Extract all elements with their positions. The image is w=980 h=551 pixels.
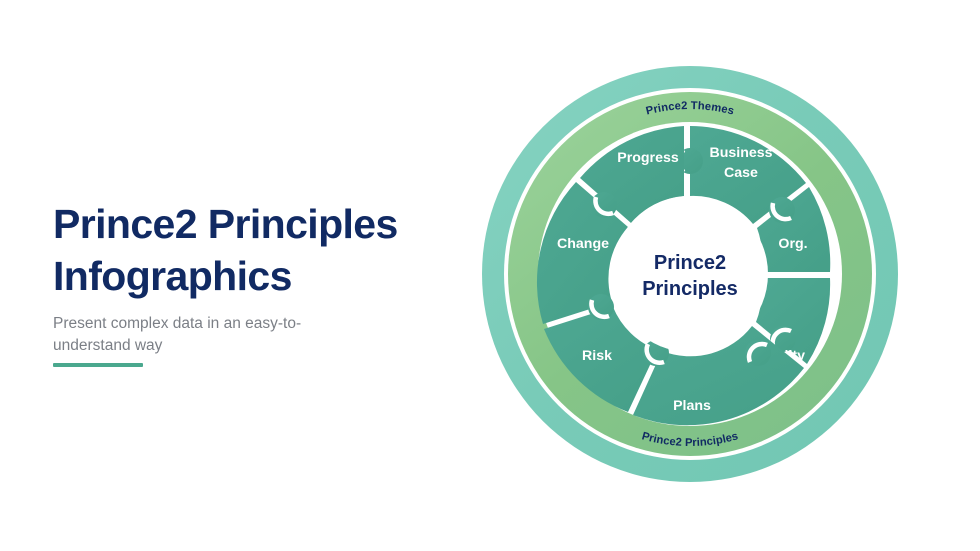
accent-underline xyxy=(53,363,143,367)
puzzle-piece-label-2: Case xyxy=(724,165,758,181)
slide-subtitle: Present complex data in an easy-to-under… xyxy=(53,313,318,357)
puzzle-piece-label: Business xyxy=(709,145,772,161)
hub-label-line2: Principles xyxy=(642,278,738,300)
prince2-wheel-diagram: Business Case Org. Quality xyxy=(473,57,907,505)
puzzle-piece-label: Org. xyxy=(778,236,807,252)
puzzle-piece-label: Plans xyxy=(673,398,711,414)
slide-canvas: Prince2 Principles Infographics Present … xyxy=(0,0,980,551)
hub-label-line1: Prince2 xyxy=(654,252,726,274)
puzzle-piece-label: Change xyxy=(557,236,609,252)
page-title: Prince2 Principles Infographics xyxy=(53,198,453,302)
text-panel: Prince2 Principles Infographics Present … xyxy=(53,198,453,357)
hub-circle xyxy=(612,196,768,352)
puzzle-piece-label: Progress xyxy=(617,150,679,166)
puzzle-piece-label: Risk xyxy=(582,348,612,364)
